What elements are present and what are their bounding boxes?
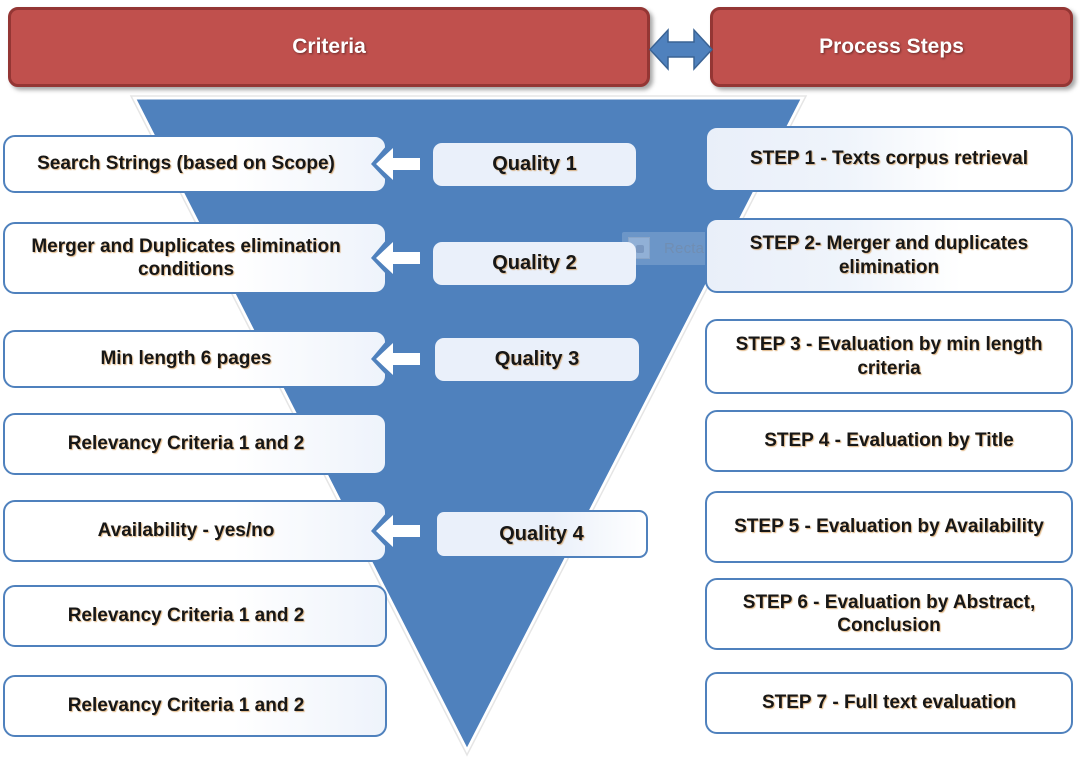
- connector-arrow-icon-4: [375, 514, 421, 548]
- connector-arrow-icon-3: [375, 342, 421, 376]
- process-step-box-7[interactable]: STEP 7 - Full text evaluation: [705, 672, 1073, 734]
- process-step-label: STEP 2- Merger and duplicates eliminatio…: [717, 232, 1061, 278]
- header-process-steps: Process Steps: [710, 7, 1073, 87]
- quality-label: Quality 2: [492, 251, 576, 275]
- header-criteria: Criteria: [8, 7, 650, 87]
- process-step-label: STEP 7 - Full text evaluation: [762, 691, 1016, 714]
- process-step-label: STEP 6 - Evaluation by Abstract, Conclus…: [717, 591, 1061, 637]
- quality-label: Quality 4: [499, 522, 583, 546]
- connector-arrow-icon-2: [375, 241, 421, 275]
- criteria-box-7[interactable]: Relevancy Criteria 1 and 2: [3, 675, 387, 737]
- criteria-label: Relevancy Criteria 1 and 2: [68, 604, 305, 627]
- criteria-label: Min length 6 pages: [100, 347, 271, 370]
- connector-arrow-icon-1: [375, 147, 421, 181]
- criteria-box-2[interactable]: Merger and Duplicates elimination condit…: [3, 222, 387, 294]
- quality-box-1[interactable]: Quality 1: [433, 143, 636, 186]
- process-step-box-3[interactable]: STEP 3 - Evaluation by min length criter…: [705, 319, 1073, 394]
- quality-label: Quality 1: [492, 152, 576, 176]
- quality-label: Quality 3: [495, 347, 579, 371]
- header-process-steps-label: Process Steps: [819, 35, 964, 59]
- process-step-label: STEP 5 - Evaluation by Availability: [734, 515, 1044, 538]
- criteria-label: Availability - yes/no: [98, 519, 275, 542]
- process-step-box-5[interactable]: STEP 5 - Evaluation by Availability: [705, 491, 1073, 563]
- criteria-label: Relevancy Criteria 1 and 2: [68, 432, 305, 455]
- criteria-box-5[interactable]: Availability - yes/no: [3, 500, 387, 562]
- process-step-label: STEP 4 - Evaluation by Title: [764, 429, 1014, 452]
- process-step-box-4[interactable]: STEP 4 - Evaluation by Title: [705, 410, 1073, 472]
- criteria-box-6[interactable]: Relevancy Criteria 1 and 2: [3, 585, 387, 647]
- double-headed-arrow-icon: [648, 23, 714, 76]
- criteria-box-1[interactable]: Search Strings (based on Scope): [3, 135, 387, 193]
- quality-box-3[interactable]: Quality 3: [435, 338, 639, 381]
- criteria-label: Merger and Duplicates elimination condit…: [13, 235, 359, 281]
- quality-box-2[interactable]: Quality 2: [433, 242, 636, 285]
- criteria-label: Search Strings (based on Scope): [37, 152, 335, 175]
- criteria-box-3[interactable]: Min length 6 pages: [3, 330, 387, 388]
- process-step-label: STEP 1 - Texts corpus retrieval: [750, 147, 1028, 170]
- criteria-label: Relevancy Criteria 1 and 2: [68, 694, 305, 717]
- process-step-label: STEP 3 - Evaluation by min length criter…: [717, 333, 1061, 379]
- header-criteria-label: Criteria: [292, 35, 366, 59]
- diagram-canvas: Criteria Process Steps Rectangular Snip …: [0, 0, 1080, 774]
- process-step-box-6[interactable]: STEP 6 - Evaluation by Abstract, Conclus…: [705, 578, 1073, 650]
- criteria-box-4[interactable]: Relevancy Criteria 1 and 2: [3, 413, 387, 475]
- process-step-box-2[interactable]: STEP 2- Merger and duplicates eliminatio…: [705, 218, 1073, 293]
- quality-box-4[interactable]: Quality 4: [435, 510, 648, 558]
- process-step-box-1[interactable]: STEP 1 - Texts corpus retrieval: [705, 126, 1073, 192]
